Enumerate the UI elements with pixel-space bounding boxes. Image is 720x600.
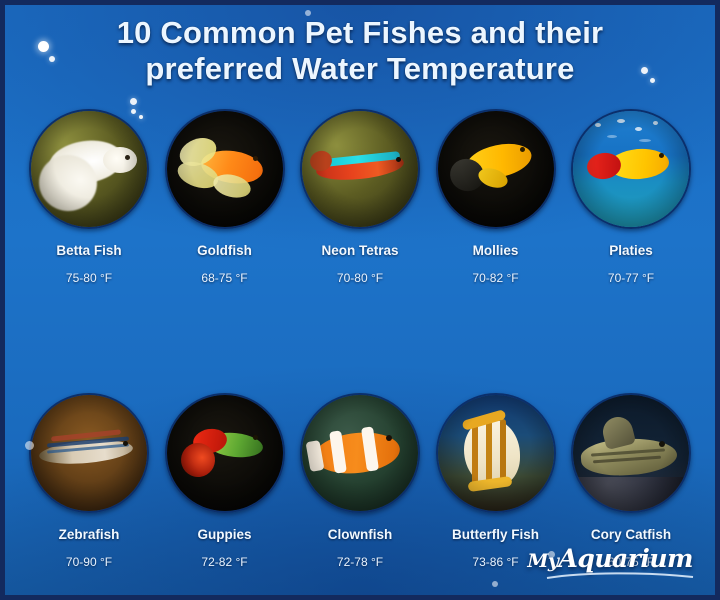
bubble-icon xyxy=(139,115,143,119)
fish-name: Platies xyxy=(609,243,653,258)
fish-name: Butterfly Fish xyxy=(452,527,539,542)
bubble-icon xyxy=(25,441,34,450)
fish-card-butterfly-fish: Butterfly Fish 73-86 °F xyxy=(436,393,556,569)
fish-card-mollies: Mollies 70-82 °F xyxy=(436,109,556,285)
fish-temperature: 68-75 °F xyxy=(201,271,247,285)
bubble-icon xyxy=(130,98,137,105)
fish-card-guppies: Guppies 72-82 °F xyxy=(165,393,285,569)
fish-card-platies: Platies 70-77 °F xyxy=(571,109,691,285)
zebrafish-photo xyxy=(29,393,149,513)
fish-temperature: 70-90 °F xyxy=(66,555,112,569)
fish-name: Clownfish xyxy=(328,527,393,542)
fish-name: Mollies xyxy=(473,243,519,258)
fish-name: Guppies xyxy=(197,527,251,542)
fish-row-1: Betta Fish 75-80 °F Goldfish 68-75 °F xyxy=(5,109,715,285)
title-line-2: preferred Water Temperature xyxy=(5,51,715,87)
brand-logo-my: My xyxy=(527,550,558,572)
infographic-poster: 10 Common Pet Fishes and their preferred… xyxy=(0,0,720,600)
fish-card-betta-fish: Betta Fish 75-80 °F xyxy=(29,109,149,285)
fish-name: Goldfish xyxy=(197,243,252,258)
fish-card-goldfish: Goldfish 68-75 °F xyxy=(165,109,285,285)
neon-tetra-photo xyxy=(300,109,420,229)
fish-temperature: 70-80 °F xyxy=(337,271,383,285)
fish-name: Betta Fish xyxy=(56,243,121,258)
fish-name: Neon Tetras xyxy=(321,243,398,258)
cory-catfish-photo xyxy=(571,393,691,513)
fish-row-2: Zebrafish 70-90 °F Guppies 72-82 °F xyxy=(5,393,715,569)
fish-name: Cory Catfish xyxy=(591,527,671,542)
fish-card-clownfish: Clownfish 72-78 °F xyxy=(300,393,420,569)
poster-title: 10 Common Pet Fishes and their preferred… xyxy=(5,15,715,87)
fish-card-cory-catfish: Cory Catfish 60-75 °F xyxy=(571,393,691,569)
fish-temperature: 70-77 °F xyxy=(608,271,654,285)
bubble-icon xyxy=(131,109,136,114)
fish-temperature: 72-78 °F xyxy=(337,555,383,569)
platy-photo xyxy=(571,109,691,229)
brand-logo: MyAquarium xyxy=(527,544,693,573)
title-line-1: 10 Common Pet Fishes and their xyxy=(5,15,715,51)
betta-fish-photo xyxy=(29,109,149,229)
fish-temperature: 72-82 °F xyxy=(201,555,247,569)
guppy-photo xyxy=(165,393,285,513)
fish-temperature: 70-82 °F xyxy=(472,271,518,285)
clownfish-photo xyxy=(300,393,420,513)
fish-grid: Betta Fish 75-80 °F Goldfish 68-75 °F xyxy=(5,109,715,569)
molly-photo xyxy=(436,109,556,229)
fish-card-zebrafish: Zebrafish 70-90 °F xyxy=(29,393,149,569)
fish-temperature: 75-80 °F xyxy=(66,271,112,285)
fish-temperature: 73-86 °F xyxy=(472,555,518,569)
goldfish-photo xyxy=(165,109,285,229)
bubble-icon xyxy=(492,581,498,587)
fish-card-neon-tetras: Neon Tetras 70-80 °F xyxy=(300,109,420,285)
fish-name: Zebrafish xyxy=(59,527,120,542)
brand-logo-aquarium: Aquarium xyxy=(558,544,693,573)
logo-swash-icon xyxy=(545,571,695,581)
butterfly-fish-photo xyxy=(436,393,556,513)
